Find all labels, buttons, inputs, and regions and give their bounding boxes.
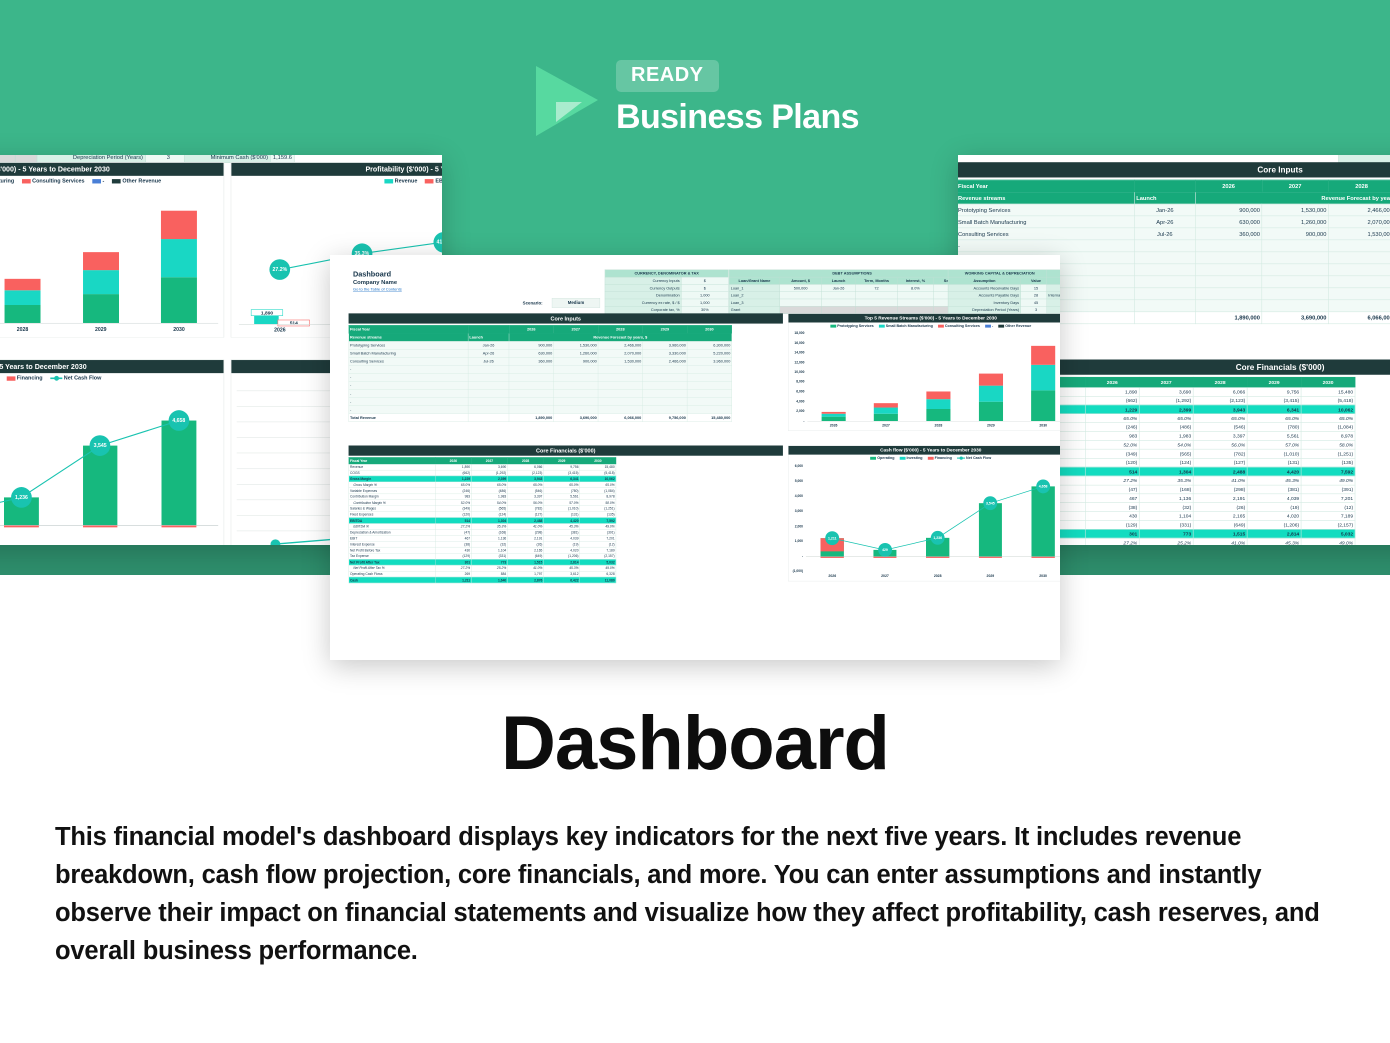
working-capital-panel-row: Inventory Days45	[948, 299, 1051, 306]
launch-label: Launch	[468, 333, 509, 341]
cf-cell: (47)	[1085, 485, 1139, 494]
cf-cell: 15,480	[1301, 387, 1355, 396]
y-tick: 6,000	[788, 390, 804, 394]
debt-panel-row: Loan_3	[729, 299, 975, 306]
cf-cell: 514	[1085, 467, 1139, 476]
stream-value: 900,000	[1195, 204, 1261, 216]
net-cash-flow-point: 4,658	[1036, 480, 1050, 494]
core-inputs-band: Core Inputs	[958, 162, 1390, 177]
core-inputs-total-row: Total Revenue 1,890,0003,690,0006,066,00…	[349, 414, 732, 422]
cf-cell: 52.0%	[1085, 440, 1139, 449]
stream-value	[509, 389, 554, 397]
currency-panel-row: Currency ex rate, $ / $1,000	[605, 299, 728, 306]
cf-year-row: Fiscal Year20262027202820292030	[349, 457, 616, 464]
y-tick: 18,000	[788, 331, 804, 335]
cf-cell: 8,978	[1301, 432, 1355, 441]
stream-value	[1262, 300, 1328, 312]
stream-value	[1328, 252, 1390, 264]
legend-swatch	[870, 457, 876, 460]
cf-cell: 467	[1085, 494, 1139, 503]
net-cash-flow-point: 429	[878, 543, 892, 557]
cf-cell: (38)	[1085, 503, 1139, 512]
cf-cell: 65.0%	[1193, 414, 1247, 423]
stream-value	[598, 373, 643, 381]
debt-panel-cell	[897, 299, 933, 306]
revenue-streams-label: Revenue streams	[958, 192, 1134, 204]
cf-cell: 3,943	[1193, 405, 1247, 414]
cf-cell: 1,515	[1193, 529, 1247, 538]
stacked-bar-segment	[83, 252, 119, 270]
page-description: This financial model's dashboard display…	[55, 818, 1340, 970]
legend-item: Financing	[928, 456, 952, 460]
play-triangle-icon	[530, 62, 604, 140]
cf-cell: 3,397	[1193, 432, 1247, 441]
legend-swatch	[928, 457, 934, 460]
cf-cell: (120)	[1085, 458, 1139, 467]
cf-cell: 1,211	[435, 577, 471, 583]
legend-item: -	[985, 324, 993, 328]
stream-launch	[1134, 276, 1195, 288]
cf-cell: (546)	[1193, 423, 1247, 432]
cf-cell: 49.0%	[1301, 538, 1355, 545]
revenue-streams-card[interactable]: Top 5 Revenue Streams ($'000) - 5 Years …	[788, 313, 1060, 431]
stacked-bar-segment	[161, 239, 197, 277]
cf-year: 2028	[508, 457, 544, 464]
core-inputs-row[interactable]: Prototyping Services Jan-26900,0001,530,…	[349, 341, 732, 349]
cf-cell: 430	[1085, 512, 1139, 521]
stream-value: 6,300,000	[687, 341, 732, 349]
total-revenue-label: Total Revenue	[349, 414, 468, 422]
cf-cell: 11,080	[580, 577, 616, 583]
currency-panel-cell: Currency Outputs	[605, 284, 681, 291]
cf-cell: 1,640	[471, 577, 507, 583]
revenue-streams-card[interactable]: Top 5 Revenue Streams ($'000) - 5 Years …	[0, 162, 224, 337]
stream-value	[1195, 288, 1261, 300]
legend-item: Small Batch Manufacturing	[879, 324, 933, 328]
stacked-bar-segment	[979, 374, 1003, 386]
cf-cell: 1,304	[1139, 467, 1193, 476]
currency-panel: CURRENCY, DENOMINATOR & TAXCurrency Inpu…	[605, 270, 729, 314]
stream-value	[598, 406, 643, 414]
x-tick: 2030	[163, 327, 196, 333]
core-inputs-year: 2027	[1262, 180, 1328, 192]
legend-label: Small Batch Manufacturing	[0, 178, 14, 184]
revenue-streams-title: Top 5 Revenue Streams ($'000) - 5 Years …	[0, 163, 224, 176]
launch-label: Launch	[1134, 192, 1195, 204]
stream-launch	[1134, 240, 1195, 252]
stream-launch: Jul-26	[468, 357, 509, 365]
core-inputs-year: 2030	[687, 325, 732, 333]
cf-cell: (135)	[1301, 458, 1355, 467]
stream-value	[1262, 288, 1328, 300]
cf-year: 2029	[544, 457, 580, 464]
stream-value	[1262, 252, 1328, 264]
legend-swatch	[938, 325, 944, 328]
cf-cell: (3,415)	[1247, 396, 1301, 405]
core-inputs-year-row: Fiscal Year 20262027202820292030	[958, 180, 1390, 192]
x-tick: 2028	[6, 327, 39, 333]
stream-name: Small Batch Manufacturing	[349, 349, 468, 357]
stream-value: 630,000	[1195, 216, 1261, 228]
legend-swatch	[900, 457, 906, 460]
cf-cell: (19)	[1247, 503, 1301, 512]
stream-name: -	[349, 365, 468, 373]
stream-value	[598, 389, 643, 397]
cf-cell: 773	[1139, 529, 1193, 538]
stream-value	[1328, 300, 1390, 312]
legend-label: Other Revenue	[1005, 324, 1031, 328]
x-tick: 2029	[980, 424, 1002, 428]
debt-panel-cell	[780, 292, 822, 299]
legend-label: Small Batch Manufacturing	[886, 324, 933, 328]
legend-label: Net Cash Flow	[966, 456, 991, 460]
cf-cell: 2,814	[1247, 529, 1301, 538]
stacked-bar-segment	[1031, 365, 1055, 390]
legend-swatch	[112, 179, 121, 183]
stream-name: Consulting Services	[349, 357, 468, 365]
debt-panel-header: Term, Months	[856, 277, 898, 284]
stream-value	[643, 381, 688, 389]
page-title: Dashboard	[0, 700, 1390, 787]
cf-cell: 301	[1085, 529, 1139, 538]
core-inputs-row[interactable]: -	[349, 381, 732, 389]
stream-value	[643, 365, 688, 373]
core-inputs-row[interactable]: Small Batch Manufacturing Apr-26630,0001…	[349, 349, 732, 357]
legend-item: Investing	[900, 456, 923, 460]
stream-value: 3,960,000	[687, 357, 732, 365]
key-metrics-panel-row: Minimum Cash MonthJul-26	[1047, 299, 1060, 306]
stream-value	[509, 373, 554, 381]
cf-cell: 2,399	[1139, 405, 1193, 414]
cf-fiscal-year-label: Fiscal Year	[349, 457, 436, 464]
debt-panel-header: Launch	[821, 277, 855, 284]
net-cash-flow-line	[0, 385, 224, 545]
forecast-label: Revenue Forecast by years, $	[509, 333, 732, 341]
working-capital-panel-header: Assumption	[948, 277, 1021, 284]
legend-label: -	[992, 324, 993, 328]
stream-value	[1328, 264, 1390, 276]
stream-name: -	[349, 398, 468, 406]
stream-value	[643, 389, 688, 397]
legend-label: Consulting Services	[945, 324, 980, 328]
stream-value: 360,000	[1195, 228, 1261, 240]
y-tick: 2,000	[788, 409, 804, 413]
cf-cell: (486)	[1139, 423, 1193, 432]
cf-cell: (782)	[1193, 449, 1247, 458]
cf-cell: 65.0%	[1085, 414, 1139, 423]
x-tick: 2030	[1032, 424, 1054, 428]
core-inputs-year: 2026	[1195, 180, 1261, 192]
cf-cell: 65.0%	[1247, 414, 1301, 423]
debt-panel-cell: 500,000	[780, 284, 822, 291]
stream-value	[554, 406, 599, 414]
stream-value: 2,070,000	[598, 349, 643, 357]
core-inputs-table: Fiscal Year 20262027202820292030 Revenue…	[349, 325, 732, 422]
total-revenue-value: 15,480,000	[687, 414, 732, 422]
stacked-bar-segment	[979, 386, 1003, 402]
cf-cell: 7,201	[1301, 494, 1355, 503]
debt-panel-cell	[780, 299, 822, 306]
fiscal-year-label: Fiscal Year	[349, 325, 468, 333]
core-inputs-row[interactable]: -	[349, 398, 732, 406]
legend-item: Financing	[6, 375, 42, 381]
debt-panel-cell: 8.0%	[897, 284, 933, 291]
currency-panel-cell: $	[681, 284, 728, 291]
cf-cell: (26)	[1193, 503, 1247, 512]
stream-value	[1195, 252, 1261, 264]
core-inputs-row[interactable]: Small Batch Manufacturing Apr-26630,0001…	[958, 216, 1390, 228]
core-inputs-year: 2029	[643, 325, 688, 333]
revenue-streams-legend: Prototyping ServicesSmall Batch Manufact…	[788, 324, 1060, 328]
working-capital-panel: WORKING CAPITAL & DEPRECIATIONAssumption…	[948, 270, 1052, 314]
debt-panel-cell	[856, 299, 898, 306]
core-inputs-blank	[468, 325, 509, 333]
cf-cell: (1,010)	[1247, 449, 1301, 458]
cf-cell: 1,229	[1085, 405, 1139, 414]
stream-value	[643, 406, 688, 414]
cf-cell: 1,890	[1085, 387, 1139, 396]
cf-cell: 1,104	[1139, 512, 1193, 521]
stacked-bar-segment	[822, 412, 846, 414]
currency-panel-cell: Currency Inputs	[605, 277, 681, 284]
cf-cell: 983	[1085, 432, 1139, 441]
stream-value	[687, 381, 732, 389]
stream-value	[554, 365, 599, 373]
currency-panel-cell: Denomination	[605, 292, 681, 299]
profitability-legend: RevenueEBITDA EBITDA %	[231, 178, 442, 184]
stream-name: Prototyping Services	[958, 204, 1134, 216]
slide-canvas: READY Business Plans DashboardCompany Na…	[0, 0, 1390, 1043]
stream-value	[1195, 240, 1261, 252]
legend-swatch	[425, 179, 434, 183]
total-revenue-value: 6,066,000	[1328, 312, 1390, 324]
total-revenue-value: 9,756,000	[643, 414, 688, 422]
legend-item: EBITDA	[425, 178, 442, 184]
sheet-preview-main[interactable]: DashboardCompany NameGo to the Table of …	[330, 255, 1060, 660]
cf-cell: (2,157)	[1301, 520, 1355, 529]
legend-label: -	[103, 178, 105, 184]
stream-launch	[1134, 264, 1195, 276]
x-tick: 2029	[84, 327, 117, 333]
core-inputs-row[interactable]: Consulting Services Jul-26360,000900,000…	[349, 357, 732, 365]
brand-name: Business Plans	[616, 98, 859, 137]
working-capital-panel-row: Accounts Payable Days28	[948, 292, 1051, 299]
total-revenue-value: 1,890,000	[509, 414, 554, 422]
cf-cell: 5,561	[1247, 432, 1301, 441]
legend-label: Net Cash Flow	[64, 375, 102, 381]
core-inputs-year: 2028	[598, 325, 643, 333]
debt-panel-row: Loan_2	[729, 292, 975, 299]
stream-name: -	[958, 240, 1134, 252]
stream-value	[687, 398, 732, 406]
key-metrics-panel-header: KPI	[1047, 277, 1060, 284]
stacked-bar-segment	[979, 402, 1003, 421]
net-cash-flow-point: 1,211	[825, 531, 839, 545]
cf-year: 2029	[1247, 377, 1301, 387]
stream-value	[509, 406, 554, 414]
cf-cell: (168)	[1139, 485, 1193, 494]
stream-value: 900,000	[554, 357, 599, 365]
cf-cell: (331)	[1139, 520, 1193, 529]
cf-cell: 2,488	[1193, 467, 1247, 476]
cf-cell: 45.3%	[1247, 476, 1301, 485]
legend-item: Revenue	[384, 178, 417, 184]
cf-cell: 5,032	[1301, 529, 1355, 538]
cf-cell: 6,341	[1247, 405, 1301, 414]
cf-cell: (780)	[1247, 423, 1301, 432]
key-metrics-panel: KEY METRICSKPIValueReturn on Equity (ROE…	[1046, 270, 1060, 314]
stream-value	[554, 373, 599, 381]
legend-item: Net Cash Flow	[50, 375, 101, 381]
stream-launch: Jul-26	[1134, 228, 1195, 240]
core-inputs-row[interactable]: Consulting Services Jul-26360,000900,000…	[958, 228, 1390, 240]
core-inputs-row[interactable]: -	[349, 373, 732, 381]
stream-launch	[468, 398, 509, 406]
stream-name: Small Batch Manufacturing	[958, 216, 1134, 228]
debt-panel-header: Interest, %	[897, 277, 933, 284]
core-inputs-subhead: Revenue streams Launch Revenue Forecast …	[349, 333, 732, 341]
cf-cell: (565)	[1139, 449, 1193, 458]
y-tick: -	[788, 419, 804, 423]
stacked-bar-segment	[83, 270, 119, 294]
debt-panel-cell	[856, 292, 898, 299]
debt-panel-cell	[821, 299, 855, 306]
stream-value: 2,070,000	[1328, 216, 1390, 228]
cf-cell: (246)	[1085, 423, 1139, 432]
total-blank	[1134, 312, 1195, 324]
cf-cell: (649)	[1193, 520, 1247, 529]
stacked-bar-segment	[161, 210, 197, 239]
legend-item: Operating	[870, 456, 894, 460]
stacked-bar-segment	[1031, 346, 1055, 365]
dashboard-title: Dashboard	[353, 270, 391, 278]
stream-value: 630,000	[509, 349, 554, 357]
stream-value: 2,466,000	[643, 357, 688, 365]
debt-panel-header: Amount, $	[780, 277, 822, 284]
cf-cell: 25.2%	[1139, 538, 1193, 545]
stream-value: 5,220,000	[687, 349, 732, 357]
stream-value	[598, 398, 643, 406]
cf-cell: (127)	[1193, 458, 1247, 467]
net-cash-flow-point: 4,658	[168, 410, 189, 431]
core-inputs-subhead: Revenue streams Launch Revenue Forecast …	[958, 192, 1390, 204]
currency-panel-row: Denomination1,000	[605, 292, 728, 299]
core-inputs-row[interactable]: -	[349, 389, 732, 397]
stream-value	[687, 365, 732, 373]
stream-value	[1195, 300, 1261, 312]
cf-cell: 9,756	[1247, 387, 1301, 396]
total-revenue-value: 3,690,000	[1262, 312, 1328, 324]
cf-cell: (662)	[1085, 396, 1139, 405]
cf-cell: 2,876	[508, 577, 544, 583]
stacked-bar-segment	[874, 414, 898, 421]
table-of-contents-link[interactable]: Go to the Table of Contents	[353, 287, 402, 291]
stacked-bar-segment	[5, 305, 41, 323]
core-inputs-row[interactable]: -	[958, 240, 1390, 252]
currency-panel-title: CURRENCY, DENOMINATOR & TAX	[605, 270, 728, 277]
debt-panel-cell: Loan_3	[729, 299, 780, 306]
cf-cell: (381)	[1247, 485, 1301, 494]
stream-value	[1195, 276, 1261, 288]
cf-cell: 58.0%	[1301, 440, 1355, 449]
cash-flow-title: Cash flow ($'000) - 5 Years to December …	[788, 446, 1060, 455]
debt-panel-cell: Jan-26	[821, 284, 855, 291]
cf-year: 2027	[1139, 377, 1193, 387]
working-capital-panel-row: Accounts Receivable Days15	[948, 284, 1051, 291]
stream-value: 1,260,000	[1262, 216, 1328, 228]
legend-item: Other Revenue	[998, 324, 1031, 328]
currency-panel-cell: $	[681, 277, 728, 284]
cf-cell: 49.0%	[1301, 476, 1355, 485]
legend-item: -	[92, 178, 104, 184]
cf-cell: (298)	[1193, 485, 1247, 494]
core-inputs-row[interactable]: Prototyping Services Jan-26900,0001,530,…	[958, 204, 1390, 216]
core-inputs-row[interactable]: -	[349, 365, 732, 373]
stream-launch	[468, 373, 509, 381]
core-inputs-row[interactable]: -	[349, 406, 732, 414]
cf-cell: (2,123)	[1193, 396, 1247, 405]
stacked-bar-segment	[5, 279, 41, 290]
stream-value: 2,466,000	[1328, 204, 1390, 216]
legend-swatch	[92, 179, 101, 183]
cash-flow-card[interactable]: Cash flow ($'000) - 5 Years to December …	[788, 446, 1060, 582]
legend-item: Net Cash Flow	[957, 456, 991, 460]
cf-cell: 7,189	[1301, 512, 1355, 521]
cash-flow-legend: OperatingInvestingFinancing Net Cash Flo…	[0, 375, 224, 381]
scenario-select[interactable]: Medium	[552, 298, 600, 308]
scenario-label: Scenario:	[523, 301, 543, 306]
stacked-bar-segment	[926, 399, 950, 409]
stream-value	[1262, 264, 1328, 276]
cf-cell: 10,062	[1301, 405, 1355, 414]
cf-cell: (1,084)	[1301, 423, 1355, 432]
stream-value: 1,530,000	[554, 341, 599, 349]
core-inputs-year: 2027	[554, 325, 599, 333]
profitability-title: Profitability ($'000) - 5 Years to Decem…	[231, 163, 442, 176]
currency-panel-cell: 1,000	[681, 292, 728, 299]
cf-cell: (32)	[1139, 503, 1193, 512]
stream-value	[598, 365, 643, 373]
stream-value: 3,960,000	[643, 341, 688, 349]
stream-value	[687, 389, 732, 397]
cf-year: 2030	[580, 457, 616, 464]
currency-panel-row: Currency Inputs$	[605, 277, 728, 284]
stream-value	[1262, 276, 1328, 288]
total-revenue-value: 3,690,000	[554, 414, 599, 422]
stacked-bar-segment	[822, 414, 846, 417]
stacked-bar-segment	[5, 290, 41, 305]
stream-value	[1328, 240, 1390, 252]
stream-value	[1262, 240, 1328, 252]
working-capital-panel-title: WORKING CAPITAL & DEPRECIATION	[948, 270, 1051, 277]
cf-cell: 7,592	[1301, 467, 1355, 476]
x-tick: 2027	[875, 424, 897, 428]
stream-value: 2,466,000	[598, 341, 643, 349]
cf-cell: 54.0%	[1139, 440, 1193, 449]
y-tick: 14,000	[788, 351, 804, 355]
stream-value	[1328, 276, 1390, 288]
cash-flow-card[interactable]: Cash flow ($'000) - 5 Years to December …	[0, 360, 224, 546]
stream-value	[598, 381, 643, 389]
working-capital-panel-cell: Inventory Days	[948, 299, 1021, 306]
stream-value	[554, 381, 599, 389]
cf-cell: 4,420	[1247, 467, 1301, 476]
cf-cell: (5,418)	[1301, 396, 1355, 405]
legend-swatch	[998, 325, 1004, 328]
stream-launch: Apr-26	[1134, 216, 1195, 228]
key-metrics-panel-title: KEY METRICS	[1047, 270, 1060, 277]
cf-cell: 27.2%	[1085, 538, 1139, 545]
